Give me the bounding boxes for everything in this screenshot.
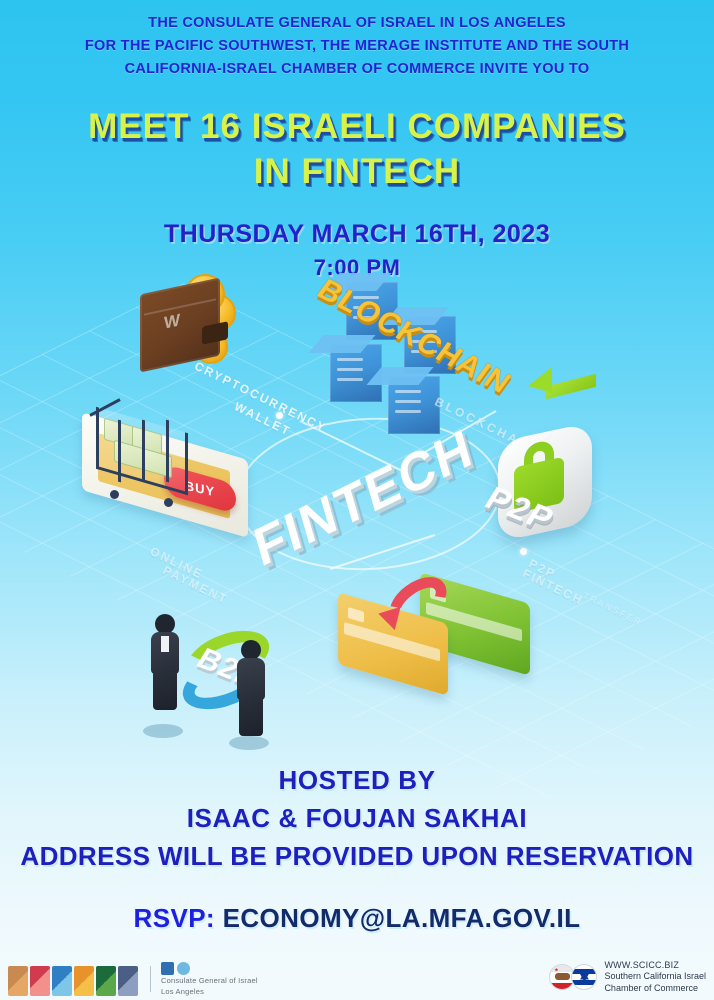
- card-chip: [348, 607, 364, 623]
- menorah-emblem-icon: [161, 962, 174, 975]
- cart-bar: [118, 420, 121, 483]
- header-line-3: CALIFORNIA-ISRAEL CHAMBER OF COMMERCE IN…: [0, 59, 714, 80]
- rsvp-email[interactable]: ECONOMY@LA.MFA.GOV.IL: [223, 903, 581, 933]
- person-head: [241, 640, 261, 660]
- consulate-logo-group: Consulate General of Israel Los Angeles: [8, 962, 258, 996]
- wordmark-letter-l: [118, 966, 138, 996]
- server-block: [330, 344, 382, 402]
- consulate-name-line-1: Consulate General of Israel: [161, 976, 258, 986]
- person-shirt: [161, 636, 169, 652]
- scicc-logo-group: WWW.SCICC.BIZ Southern California Israel…: [549, 960, 706, 995]
- rsvp-label: RSVP:: [134, 903, 215, 933]
- green-arrow-icon: [528, 368, 598, 404]
- person-legs: [153, 670, 177, 710]
- wordmark-letter-a: [74, 966, 94, 996]
- person-shadow: [229, 736, 269, 750]
- rsvp-line: RSVP: ECONOMY@LA.MFA.GOV.IL: [0, 903, 714, 934]
- shopping-cart-icon: [88, 398, 208, 508]
- hosted-by-label: HOSTED BY: [0, 765, 714, 796]
- consulate-name-line-2: Los Angeles: [161, 987, 258, 997]
- b2b-handshake-illustration: B2B: [145, 608, 285, 738]
- israel-flag-icon: [571, 964, 597, 990]
- header-line-2: FOR THE PACIFIC SOUTHWEST, THE MERAGE IN…: [0, 36, 714, 57]
- wordmark-letter-s: [30, 966, 50, 996]
- wallet-monogram: W: [164, 310, 180, 333]
- person-legs: [239, 696, 263, 736]
- logo-divider: [150, 966, 151, 992]
- cart-wheel: [164, 498, 173, 507]
- scicc-url[interactable]: WWW.SCICC.BIZ: [604, 960, 706, 972]
- cryptocurrency-wallet-icon: W: [140, 272, 240, 377]
- label-transfer: TRANSFER: [581, 590, 644, 627]
- cart-wheel: [110, 490, 119, 499]
- event-poster: THE CONSULATE GENERAL OF ISRAEL IN LOS A…: [0, 0, 714, 1000]
- headline-line-2: IN FINTECH: [0, 150, 714, 194]
- consulate-text-block: Consulate General of Israel Los Angeles: [161, 962, 258, 996]
- person-shadow: [143, 724, 183, 738]
- person-head: [155, 614, 175, 634]
- address-note: ADDRESS WILL BE PROVIDED UPON RESERVATIO…: [0, 841, 714, 872]
- scicc-name-line-1: Southern California Israel: [604, 971, 706, 983]
- israel-wordmark: [8, 962, 140, 996]
- wordmark-letter-e: [96, 966, 116, 996]
- cart-bar: [166, 420, 169, 483]
- cart-bar: [142, 420, 145, 483]
- scicc-text-block: WWW.SCICC.BIZ Southern California Israel…: [604, 960, 706, 995]
- footer-logo-bar: Consulate General of Israel Los Angeles …: [0, 944, 714, 1000]
- wordmark-letter-i: [8, 966, 28, 996]
- flags-group: [549, 964, 597, 990]
- person-torso: [237, 658, 265, 700]
- scicc-name-line-2: Chamber of Commerce: [604, 983, 706, 995]
- event-date: THURSDAY MARCH 16TH, 2023: [0, 220, 714, 249]
- star-of-david-emblem-icon: [177, 962, 190, 975]
- headline-line-1: MEET 16 ISRAELI COMPANIES: [0, 105, 714, 149]
- header-line-1: THE CONSULATE GENERAL OF ISRAEL IN LOS A…: [0, 13, 714, 34]
- p2p-security-lock-icon: P2P: [490, 428, 610, 563]
- fintech-center-word: FINTECH: [248, 416, 480, 579]
- wordmark-letter-r: [52, 966, 72, 996]
- consulate-emblems: [161, 962, 258, 975]
- host-names: ISAAC & FOUJAN SAKHAI: [0, 803, 714, 834]
